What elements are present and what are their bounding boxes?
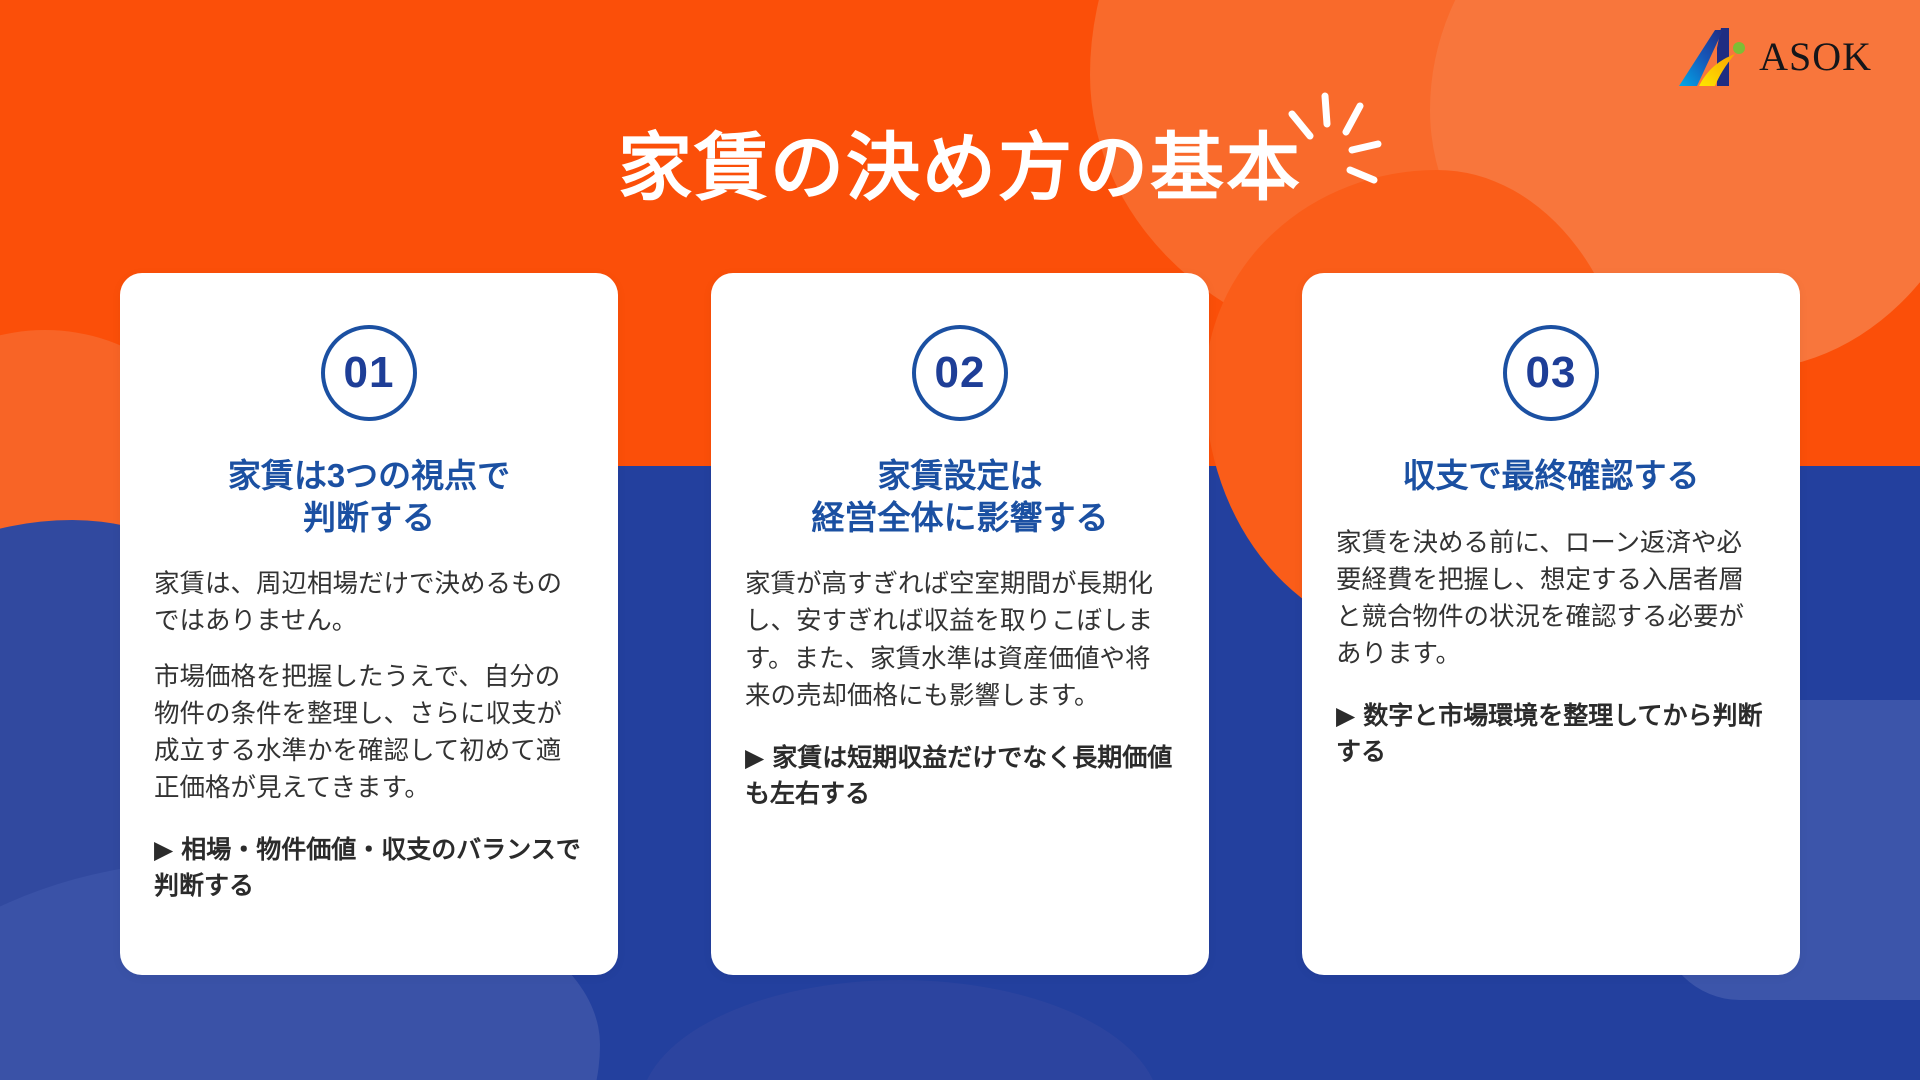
card-body: 家賃が高すぎれば空室期間が長期化し、安すぎれば収益を取りこぼします。また、家賃水…	[745, 566, 1175, 733]
slide-title-wrap: 家賃の決め方の基本	[0, 128, 1920, 208]
card-02[interactable]: 02 家賃設定は経営全体に影響する 家賃が高すぎれば空室期間が長期化し、安すぎれ…	[711, 273, 1209, 975]
card-number: 03	[1526, 351, 1577, 395]
slide-title-text: 家賃の決め方の基本	[618, 126, 1302, 209]
card-key-point-text: 数字と市場環境を整理してから判断する	[1336, 702, 1763, 766]
card-number-badge: 03	[1503, 325, 1599, 421]
cards-row: 01 家賃は3つの視点で判断する 家賃は、周辺相場だけで決めるものではありません…	[120, 273, 1800, 975]
card-body: 家賃は、周辺相場だけで決めるものではありません。 市場価格を把握したうえで、自分…	[154, 566, 584, 825]
triangle-bullet-icon: ▶	[745, 744, 764, 772]
card-paragraph: 市場価格を把握したうえで、自分の物件の条件を整理し、さらに収支が成立する水準かを…	[154, 659, 584, 808]
card-title: 家賃設定は経営全体に影響する	[812, 455, 1109, 538]
card-paragraph: 家賃は、周辺相場だけで決めるものではありません。	[154, 566, 584, 640]
triangle-bullet-icon: ▶	[154, 836, 173, 864]
asok-logo-mark-icon	[1677, 26, 1749, 88]
card-paragraph: 家賃が高すぎれば空室期間が長期化し、安すぎれば収益を取りこぼします。また、家賃水…	[745, 566, 1175, 715]
card-key-point: ▶相場・物件価値・収支のバランスで判断する	[154, 833, 584, 904]
card-key-point: ▶数字と市場環境を整理してから判断する	[1336, 699, 1766, 770]
card-body: 家賃を決める前に、ローン返済や必要経費を把握し、想定する入居者層と競合物件の状況…	[1336, 525, 1766, 692]
card-01[interactable]: 01 家賃は3つの視点で判断する 家賃は、周辺相場だけで決めるものではありません…	[120, 273, 618, 975]
card-title: 収支で最終確認する	[1403, 455, 1700, 497]
brand-logo: ASOK	[1677, 26, 1872, 88]
card-key-point-text: 相場・物件価値・収支のバランスで判断する	[154, 836, 581, 900]
card-03[interactable]: 03 収支で最終確認する 家賃を決める前に、ローン返済や必要経費を把握し、想定す…	[1302, 273, 1800, 975]
card-number-badge: 01	[321, 325, 417, 421]
card-number-badge: 02	[912, 325, 1008, 421]
slide-canvas: ASOK 家賃の決め方の基本 01 家賃は3つの視点で判断する	[0, 0, 1920, 1080]
triangle-bullet-icon: ▶	[1336, 702, 1355, 730]
sparkle-burst-icon	[1270, 78, 1390, 208]
card-key-point: ▶家賃は短期収益だけでなく長期価値も左右する	[745, 741, 1175, 812]
slide-title: 家賃の決め方の基本	[618, 128, 1302, 208]
card-number: 02	[935, 351, 986, 395]
card-key-point-text: 家賃は短期収益だけでなく長期価値も左右する	[745, 744, 1172, 808]
brand-name: ASOK	[1759, 37, 1872, 77]
card-title: 家賃は3つの視点で判断する	[228, 455, 510, 538]
card-number: 01	[344, 351, 395, 395]
card-paragraph: 家賃を決める前に、ローン返済や必要経費を把握し、想定する入居者層と競合物件の状況…	[1336, 525, 1766, 674]
